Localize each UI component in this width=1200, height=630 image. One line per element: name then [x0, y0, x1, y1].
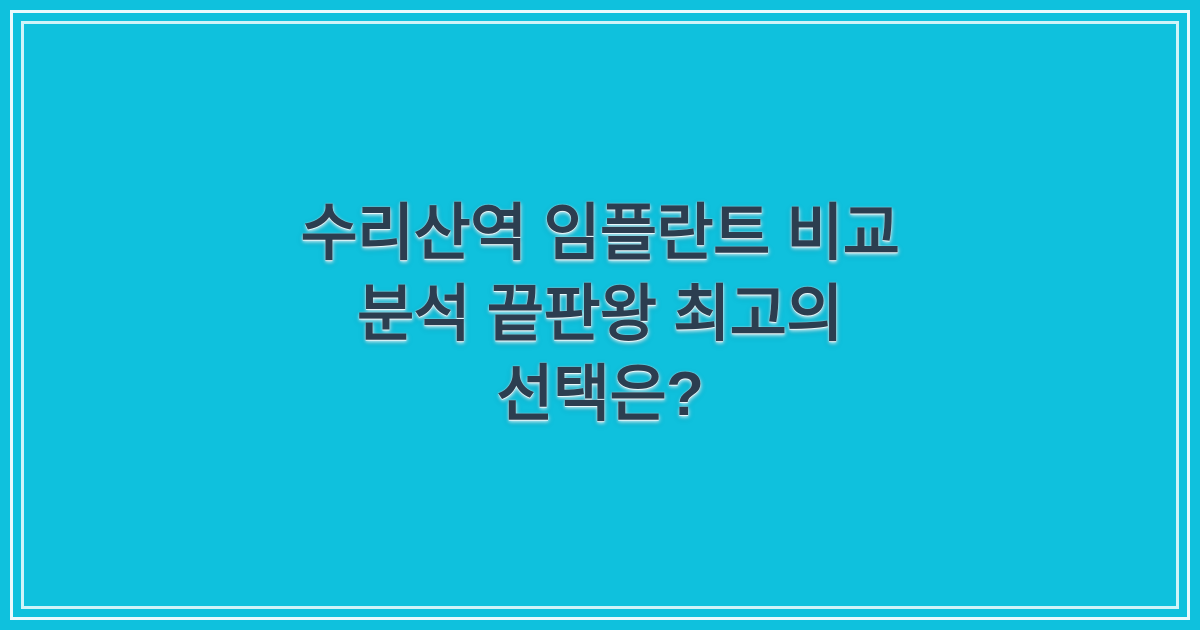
poster-canvas: 수리산역 임플란트 비교 분석 끝판왕 최고의 선택은?: [0, 0, 1200, 630]
headline-line-2: 분석 끝판왕 최고의: [90, 275, 1110, 356]
page-title: 수리산역 임플란트 비교 분석 끝판왕 최고의 선택은?: [90, 194, 1110, 436]
headline-line-3: 선택은?: [90, 355, 1110, 436]
headline-container: 수리산역 임플란트 비교 분석 끝판왕 최고의 선택은?: [0, 0, 1200, 630]
headline-line-1: 수리산역 임플란트 비교: [90, 194, 1110, 275]
